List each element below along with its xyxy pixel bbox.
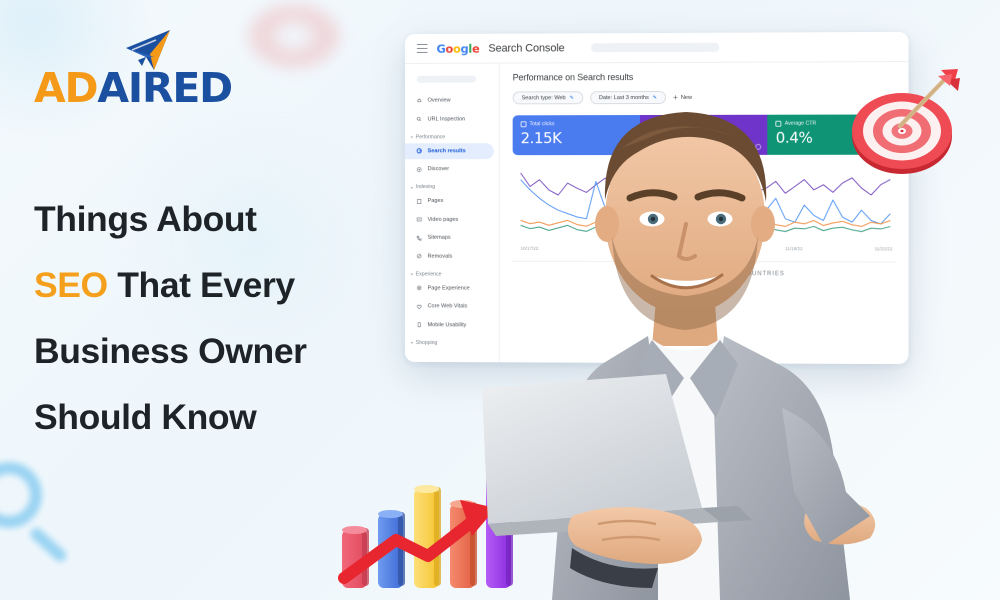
sidebar-item-label: Overview [428, 98, 451, 104]
property-selector-placeholder[interactable] [591, 43, 719, 53]
hamburger-menu-icon[interactable] [417, 44, 428, 53]
magnifier-ring [0, 462, 42, 528]
blurred-dartboard-decoration [246, 2, 342, 70]
sidebar-group-label: Performance [416, 134, 445, 140]
logo-text-aired: AIRED [97, 64, 232, 112]
sitemap-icon [416, 234, 423, 241]
sidebar-group-label: Shopping [416, 340, 438, 346]
sidebar-item-label: Removals [428, 253, 453, 259]
headline-line-4: Should Know [34, 397, 256, 437]
video-icon [416, 216, 423, 223]
brand-logo[interactable]: ADAIRED [34, 30, 234, 106]
page-title: Things About SEO That Every Business Own… [34, 186, 434, 450]
gear-icon [416, 284, 423, 291]
sidebar-item-label: Discover [428, 166, 449, 172]
logo-wordmark: ADAIRED [34, 64, 232, 112]
page-icon [416, 198, 423, 205]
magnifier-handle [28, 526, 69, 564]
mobile-icon [416, 321, 423, 328]
home-icon [416, 97, 423, 104]
gsc-product-name: Search Console [488, 42, 564, 54]
headline-line-1: Things About [34, 199, 257, 239]
businessman-with-laptop-photo [452, 78, 922, 600]
bar-3 [414, 485, 441, 588]
headline-line-2: That Every [117, 265, 295, 305]
headline-line-3: Business Owner [34, 331, 307, 371]
logo-text-ad: AD [34, 64, 97, 112]
discover-icon [416, 166, 423, 173]
headline-seo-highlight: SEO [34, 265, 108, 305]
sidebar-group-label: Indexing [416, 184, 435, 190]
gsc-topbar: Google Search Console [405, 32, 909, 64]
sidebar-item-label: Sitemaps [428, 235, 451, 241]
sidebar-group-label: Experience [416, 271, 442, 277]
google-g-icon [416, 147, 423, 154]
search-icon [416, 116, 423, 123]
sidebar-item-label: Pages [428, 198, 444, 204]
magnifier-decoration-icon [0, 452, 90, 576]
removal-icon [416, 253, 423, 260]
google-logo: Google [436, 41, 479, 55]
vitals-icon [416, 303, 423, 310]
